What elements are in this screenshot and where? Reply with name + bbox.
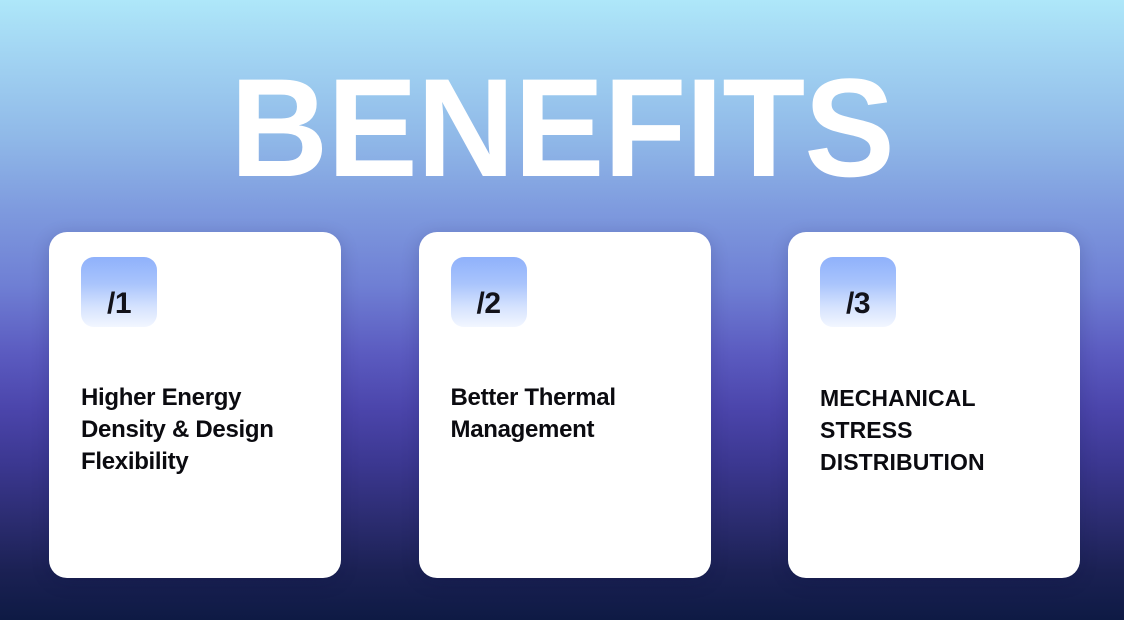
benefit-card-1[interactable]: /1 Higher Energy Density & Design Flexib…	[49, 232, 341, 578]
badge-label: /3	[820, 289, 896, 319]
benefit-title: Better Thermal Management	[451, 382, 693, 446]
page-title: BENEFITS	[17, 58, 1107, 198]
benefit-card-3[interactable]: /3 MECHANICAL STRESS DISTRIBUTION	[788, 232, 1080, 578]
benefit-cards-row: /1 Higher Energy Density & Design Flexib…	[49, 232, 1080, 578]
benefits-slide: BENEFITS /1 Higher Energy Density & Desi…	[0, 0, 1124, 620]
benefit-title: MECHANICAL STRESS DISTRIBUTION	[820, 382, 1062, 478]
badge-label: /2	[451, 289, 527, 319]
benefit-card-2[interactable]: /2 Better Thermal Management	[419, 232, 711, 578]
badge-number-3: /3	[820, 257, 896, 327]
badge-number-1: /1	[81, 257, 157, 327]
badge-number-2: /2	[451, 257, 527, 327]
benefit-title: Higher Energy Density & Design Flexibili…	[81, 382, 323, 478]
badge-label: /1	[81, 289, 157, 319]
